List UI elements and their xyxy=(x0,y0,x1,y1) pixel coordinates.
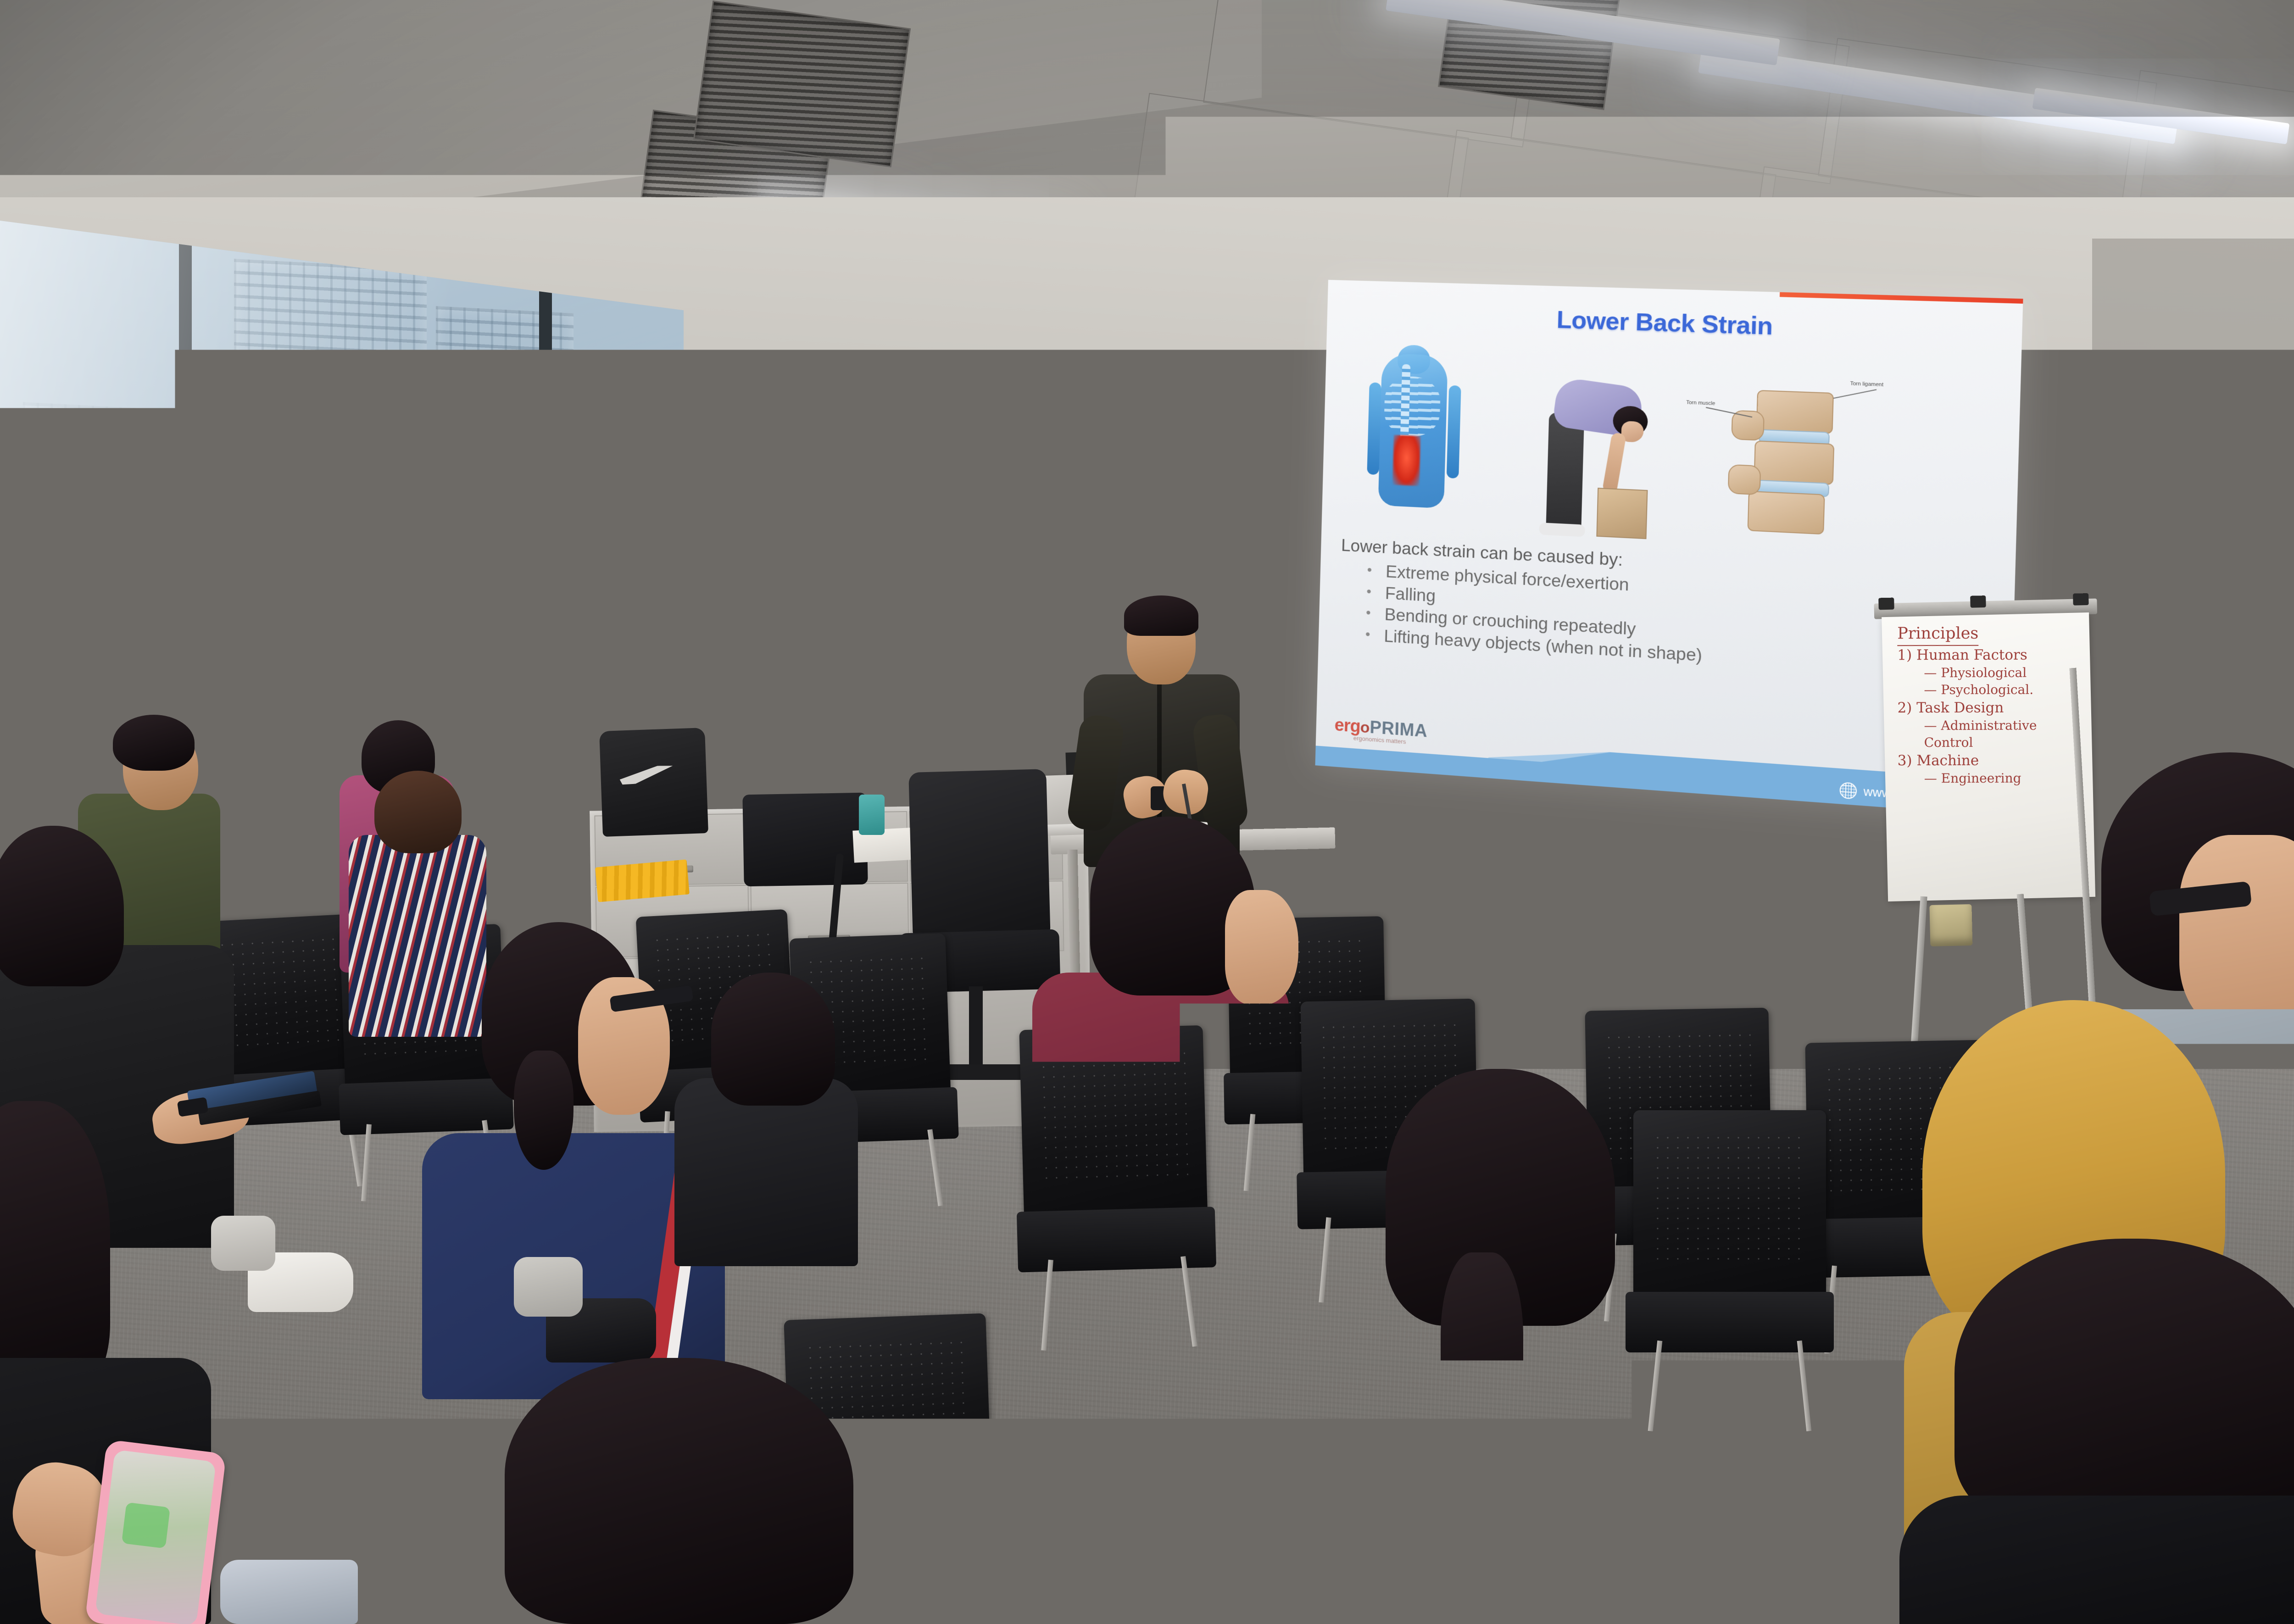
marker-pouch xyxy=(1929,904,1972,946)
globe-icon xyxy=(1839,782,1857,799)
bending-lifting-figure-icon xyxy=(1516,350,1665,545)
flipchart-line: — Administrative Control xyxy=(1924,717,2087,751)
phone-app-icon[interactable] xyxy=(122,1502,170,1548)
attendee-phone xyxy=(0,1101,349,1624)
office-chair-post xyxy=(969,986,983,1073)
logo-text-o: o xyxy=(1360,718,1370,737)
bullet-dot-icon: • xyxy=(1365,625,1370,644)
slide-title: Lower Back Strain xyxy=(1327,299,2022,349)
bullet-dot-icon: • xyxy=(1366,582,1372,601)
black-shoulder-bag[interactable] xyxy=(742,793,868,887)
attendee-maroon xyxy=(1005,807,1326,1312)
logo-text-ergo: erg xyxy=(1334,715,1360,737)
presenter-hair xyxy=(1124,595,1198,636)
blue-anatomy-figure-icon xyxy=(1353,350,1474,535)
water-bottle[interactable] xyxy=(859,795,885,835)
whiteboard-eraser[interactable] xyxy=(895,732,933,747)
attendee-back-row xyxy=(477,679,615,918)
slide-bullet-text: Falling xyxy=(1385,584,1436,606)
flipchart-line: — Physiological xyxy=(1924,665,2086,682)
bullet-dot-icon: • xyxy=(1367,561,1372,579)
grey-sock xyxy=(514,1257,583,1317)
attendee-foreground-dark xyxy=(486,1358,899,1624)
ponytail xyxy=(514,1051,573,1170)
red-marker[interactable] xyxy=(974,734,993,744)
attendee-grey-top xyxy=(1294,1069,1707,1624)
diagram-label-torn-muscle: Torn muscle xyxy=(1686,400,1715,406)
ergoprima-logo: erg o PRIMA ergonomics matters xyxy=(1334,715,1428,746)
vertebrae-diagram-icon: Torn ligament Torn muscle xyxy=(1724,375,1893,540)
seminar-room-photo: Lower Back Strain xyxy=(0,0,2294,1624)
flipchart-line: — Psychological. xyxy=(1924,682,2086,699)
attendee-mid-left xyxy=(674,973,867,1266)
ac-vent xyxy=(693,0,911,167)
slide-figures: Torn ligament Torn muscle xyxy=(1321,344,2021,563)
nike-backpack[interactable] xyxy=(599,728,708,837)
jeans-leg xyxy=(220,1560,358,1624)
door-closer-plate xyxy=(2227,434,2283,449)
flipchart-line: Principles xyxy=(1897,623,1978,646)
attendee-back-right xyxy=(1899,1239,2294,1624)
bullet-dot-icon: • xyxy=(1366,604,1371,622)
flipchart-line: 2) Task Design xyxy=(1898,698,2087,717)
flipchart-line: 1) Human Factors xyxy=(1897,646,2086,665)
diagram-label-torn-ligament: Torn ligament xyxy=(1850,381,1883,388)
